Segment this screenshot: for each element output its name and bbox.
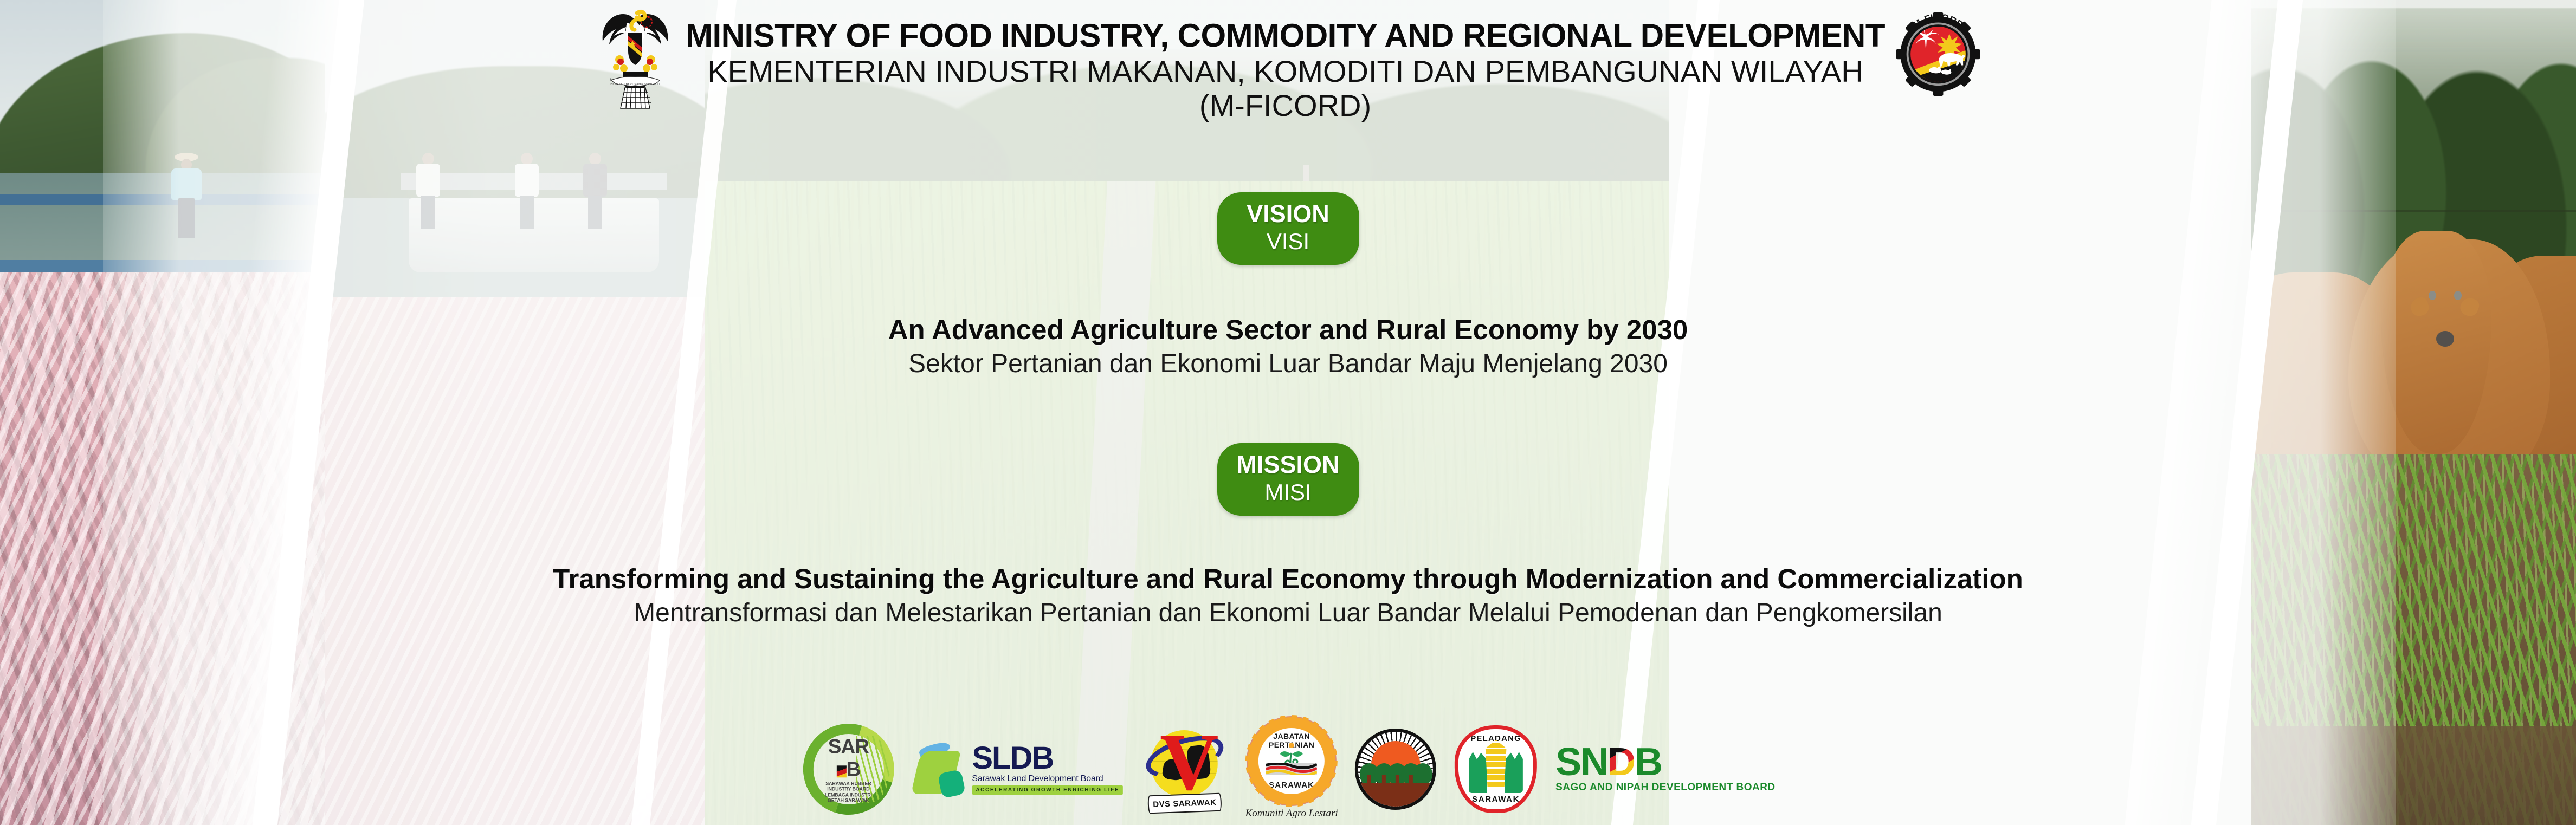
sarib-name-en: SARAWAK RUBBER INDUSTRY BOARD — [824, 781, 872, 792]
mission-statement-ms: Mentransformasi dan Melestarikan Pertani… — [0, 598, 2576, 629]
ministry-title-english: MINISTRY OF FOOD INDUSTRY, COMMODITY AND… — [686, 18, 1885, 54]
sarib-name-ms: LEMBAGA INDUSTRI GETAH SARAWAK — [824, 792, 872, 803]
ministry-vision-mission-banner: BERSATU BERUSAHA BERBAKTI MINISTRY OF FO… — [0, 0, 2576, 825]
agency-logo-sndb[interactable]: SNDB SAGO AND NIPAH DEVELOPMENT BOARD — [1555, 745, 1776, 794]
ministry-titles: MINISTRY OF FOOD INDUSTRY, COMMODITY AND… — [686, 4, 1885, 122]
lcda-sunburst-icon: Land Custody and Development Authority — [1355, 729, 1436, 810]
mission-statement: Transforming and Sustaining the Agricult… — [0, 563, 2576, 629]
mission-badge-label-ms: MISI — [1217, 479, 1359, 505]
peladang-wheat-icon — [1483, 740, 1508, 787]
svg-text:BERSATU BERUSAHA BERBAKTI: BERSATU BERUSAHA BERBAKTI — [610, 83, 660, 86]
vision-badge-label-en: VISION — [1217, 201, 1359, 226]
agency-logo-sldb[interactable]: SLDB Sarawak Land Development Board ACCE… — [914, 741, 1123, 797]
lcda-name: Land Custody and Development Authority — [1355, 729, 1355, 729]
sldb-tagline: ACCELERATING GROWTH ENRICHING LIFE — [972, 785, 1123, 795]
vision-statement-ms: Sektor Pertanian dan Ekonomi Luar Bandar… — [0, 349, 2576, 380]
sndb-abbr-flag-letter: D — [1607, 745, 1635, 780]
agency-logo-lcda-pelita[interactable]: Land Custody and Development Authority — [1355, 729, 1436, 810]
jps-sarawak-ribbon-icon — [1266, 763, 1317, 775]
jps-arc-bottom: SARAWAK — [1258, 781, 1325, 790]
sldb-abbreviation: SLDB — [972, 744, 1123, 772]
mission-statement-en: Transforming and Sustaining the Agricult… — [0, 563, 2576, 595]
agency-logo-strip: SARB SARAWAK RUBBER INDUSTRY BOARD LEMBA… — [800, 721, 1775, 817]
dvs-monogram: V — [1160, 722, 1210, 791]
sarawak-flag-icon — [836, 765, 846, 777]
agency-logo-sarib[interactable]: SARB SARAWAK RUBBER INDUSTRY BOARD LEMBA… — [800, 722, 896, 817]
sldb-mark-icon — [914, 741, 966, 797]
mficord-logo-icon: · · M-FICORD · — [1895, 7, 1981, 99]
jps-tagline: Komuniti Agro Lestari — [1228, 808, 1355, 820]
vision-badge-label-ms: VISI — [1217, 229, 1359, 254]
sarawak-state-crest-icon: BERSATU BERUSAHA BERBAKTI — [595, 8, 676, 111]
sarib-abbr-head: SAR — [828, 735, 869, 757]
ministry-title-malay: KEMENTERIAN INDUSTRI MAKANAN, KOMODITI D… — [686, 55, 1885, 89]
sarib-abbr-tail: B — [846, 758, 860, 780]
sndb-abbr-part1: SN — [1555, 740, 1607, 784]
peladang-arc-bottom: SARAWAK — [1458, 795, 1533, 804]
vision-statement: An Advanced Agriculture Sector and Rural… — [0, 314, 2576, 380]
dvs-banner-label: DVS SARAWAK — [1148, 793, 1222, 814]
agency-logo-peladang-sarawak[interactable]: PELADANG SARAWAK — [1455, 725, 1537, 813]
agency-logo-jabatan-pertanian-sarawak[interactable]: JABATAN PERTANIAN — [1247, 721, 1337, 817]
peladang-shield-icon: PELADANG SARAWAK — [1455, 725, 1537, 813]
sndb-name-en: SAGO AND NIPAH DEVELOPMENT BOARD — [1555, 782, 1776, 794]
mission-badge-label-en: MISSION — [1217, 452, 1359, 477]
mission-badge: MISSION MISI — [1217, 443, 1359, 516]
vision-badge: VISION VISI — [1217, 192, 1359, 265]
sldb-name-en: Sarawak Land Development Board — [972, 774, 1123, 784]
banner-header: BERSATU BERUSAHA BERBAKTI MINISTRY OF FO… — [0, 4, 2576, 122]
ministry-abbreviation: (M-FICORD) — [686, 89, 1885, 123]
agency-logo-dvs-sarawak[interactable]: V DVS SARAWAK — [1141, 724, 1228, 815]
vision-statement-en: An Advanced Agriculture Sector and Rural… — [0, 314, 2576, 346]
sndb-abbr-part3: B — [1635, 740, 1662, 784]
